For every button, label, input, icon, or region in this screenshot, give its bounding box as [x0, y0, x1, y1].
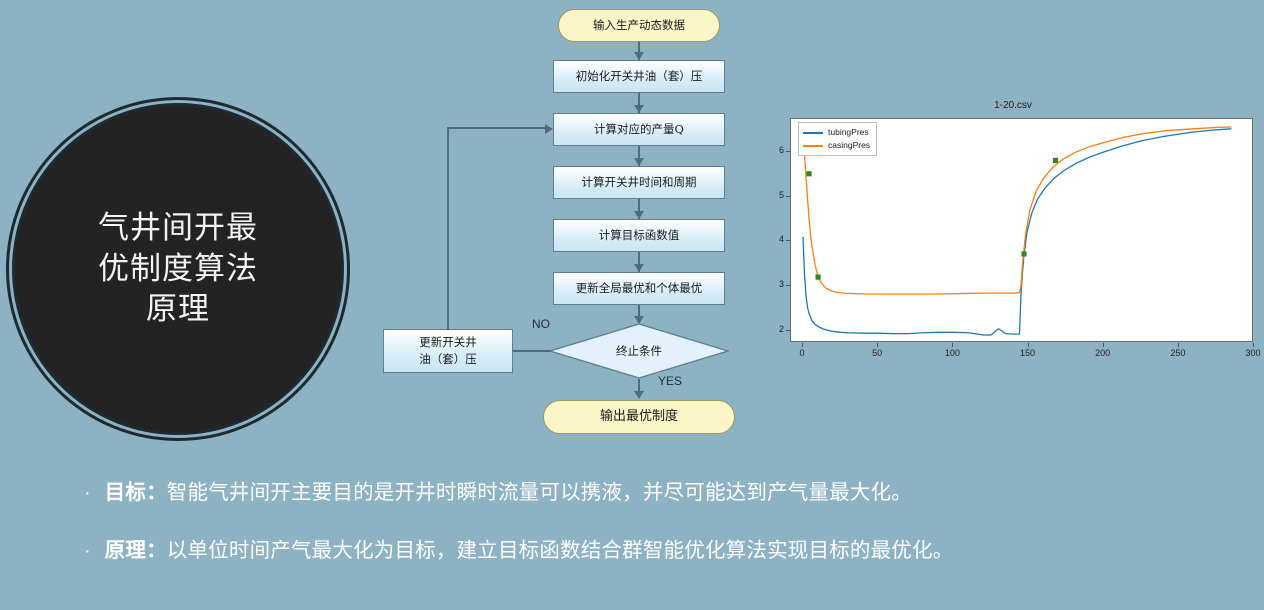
arrow-down-icon	[634, 264, 644, 272]
y-tick-label: 5	[764, 190, 784, 200]
flow-node-calc-q: 计算对应的产量Q	[553, 113, 725, 146]
legend-label-casing: casingPres	[828, 139, 870, 152]
circle-title-text: 气井间开最 优制度算法 原理	[98, 208, 258, 331]
arrow-down-icon	[634, 158, 644, 166]
arrow-down-icon	[634, 105, 644, 113]
flow-connector-loop-horizontal	[447, 127, 547, 129]
bullet-body: 智能气井间开主要目的是开井时瞬时流量可以携液，并尽可能达到产气量最大化。	[167, 481, 912, 504]
y-tick-mark	[786, 240, 790, 241]
legend-swatch-tubing	[803, 132, 823, 134]
flow-node-update-best: 更新全局最优和个体最优	[553, 272, 725, 305]
bullet-lead: 目标：	[105, 481, 167, 504]
bullet-lead: 原理：	[105, 539, 167, 562]
chart-series-tubingPres	[803, 129, 1231, 335]
flow-node-init: 初始化开关井油（套）压	[553, 60, 725, 93]
x-tick-mark	[1178, 343, 1179, 347]
x-tick-mark	[802, 343, 803, 347]
x-tick-mark	[1253, 343, 1254, 347]
bullet-body: 以单位时间产气最大化为目标，建立目标函数结合群智能优化算法实现目标的最优化。	[167, 539, 954, 562]
arrow-down-icon	[634, 211, 644, 219]
x-tick-label: 300	[1238, 348, 1264, 358]
y-tick-label: 2	[764, 324, 784, 334]
legend-swatch-casing	[803, 145, 823, 147]
arrow-right-icon	[545, 124, 553, 134]
decision-label: 终止条件	[549, 323, 729, 379]
flow-connector-loop-vertical	[447, 127, 449, 330]
slide-canvas: 气井间开最 优制度算法 原理 输入生产动态数据 初始化开关井油（套）压 计算对应…	[0, 0, 1264, 610]
x-tick-label: 50	[862, 348, 892, 358]
x-tick-mark	[1028, 343, 1029, 347]
flow-node-decision: 终止条件	[549, 323, 729, 379]
flow-node-update-pressure: 更新开关井 油（套）压	[383, 329, 513, 373]
flow-connector-no	[512, 350, 550, 352]
y-tick-label: 3	[764, 279, 784, 289]
chart-title: 1-20.csv	[762, 100, 1264, 111]
x-tick-mark	[877, 343, 878, 347]
x-tick-label: 250	[1163, 348, 1193, 358]
chart-legend: tubingPres casingPres	[798, 122, 877, 156]
x-tick-label: 100	[937, 348, 967, 358]
x-tick-label: 0	[787, 348, 817, 358]
chart-marker-point	[806, 171, 811, 176]
legend-label-tubing: tubingPres	[828, 126, 869, 139]
x-tick-label: 150	[1013, 348, 1043, 358]
y-tick-mark	[786, 151, 790, 152]
y-tick-mark	[786, 196, 790, 197]
bullet-list: · 目标：智能气井间开主要目的是开井时瞬时流量可以携液，并尽可能达到产气量最大化…	[84, 480, 1224, 595]
y-tick-mark	[786, 330, 790, 331]
arrow-down-icon	[634, 391, 644, 399]
y-tick-mark	[786, 285, 790, 286]
flow-node-output: 输出最优制度	[543, 400, 735, 434]
x-tick-mark	[1103, 343, 1104, 347]
circle-title-badge: 气井间开最 优制度算法 原理	[12, 103, 344, 435]
y-tick-label: 6	[764, 145, 784, 155]
chart-marker-point	[815, 274, 820, 279]
legend-item-tubing: tubingPres	[803, 126, 870, 139]
y-tick-label: 4	[764, 234, 784, 244]
algorithm-flowchart: 输入生产动态数据 初始化开关井油（套）压 计算对应的产量Q 计算开关井时间和周期…	[370, 0, 760, 450]
bullet-dot-icon: ·	[84, 483, 91, 503]
edge-label-yes: YES	[658, 374, 682, 388]
pressure-chart-panel: 1-20.csv tubingPres casingPres 234560501…	[762, 98, 1264, 376]
x-tick-label: 200	[1088, 348, 1118, 358]
chart-marker-point	[1021, 251, 1026, 256]
flow-node-calc-time: 计算开关井时间和周期	[553, 166, 725, 199]
chart-marker-point	[1053, 158, 1058, 163]
list-item: · 目标：智能气井间开主要目的是开井时瞬时流量可以携液，并尽可能达到产气量最大化…	[84, 480, 1224, 506]
flow-node-calc-objective: 计算目标函数值	[553, 219, 725, 252]
flow-node-input: 输入生产动态数据	[558, 9, 720, 42]
edge-label-no: NO	[532, 317, 550, 331]
list-item: · 原理：以单位时间产气最大化为目标，建立目标函数结合群智能优化算法实现目标的最…	[84, 538, 1224, 564]
legend-item-casing: casingPres	[803, 139, 870, 152]
bullet-dot-icon: ·	[84, 541, 91, 561]
arrow-down-icon	[634, 52, 644, 60]
x-tick-mark	[952, 343, 953, 347]
